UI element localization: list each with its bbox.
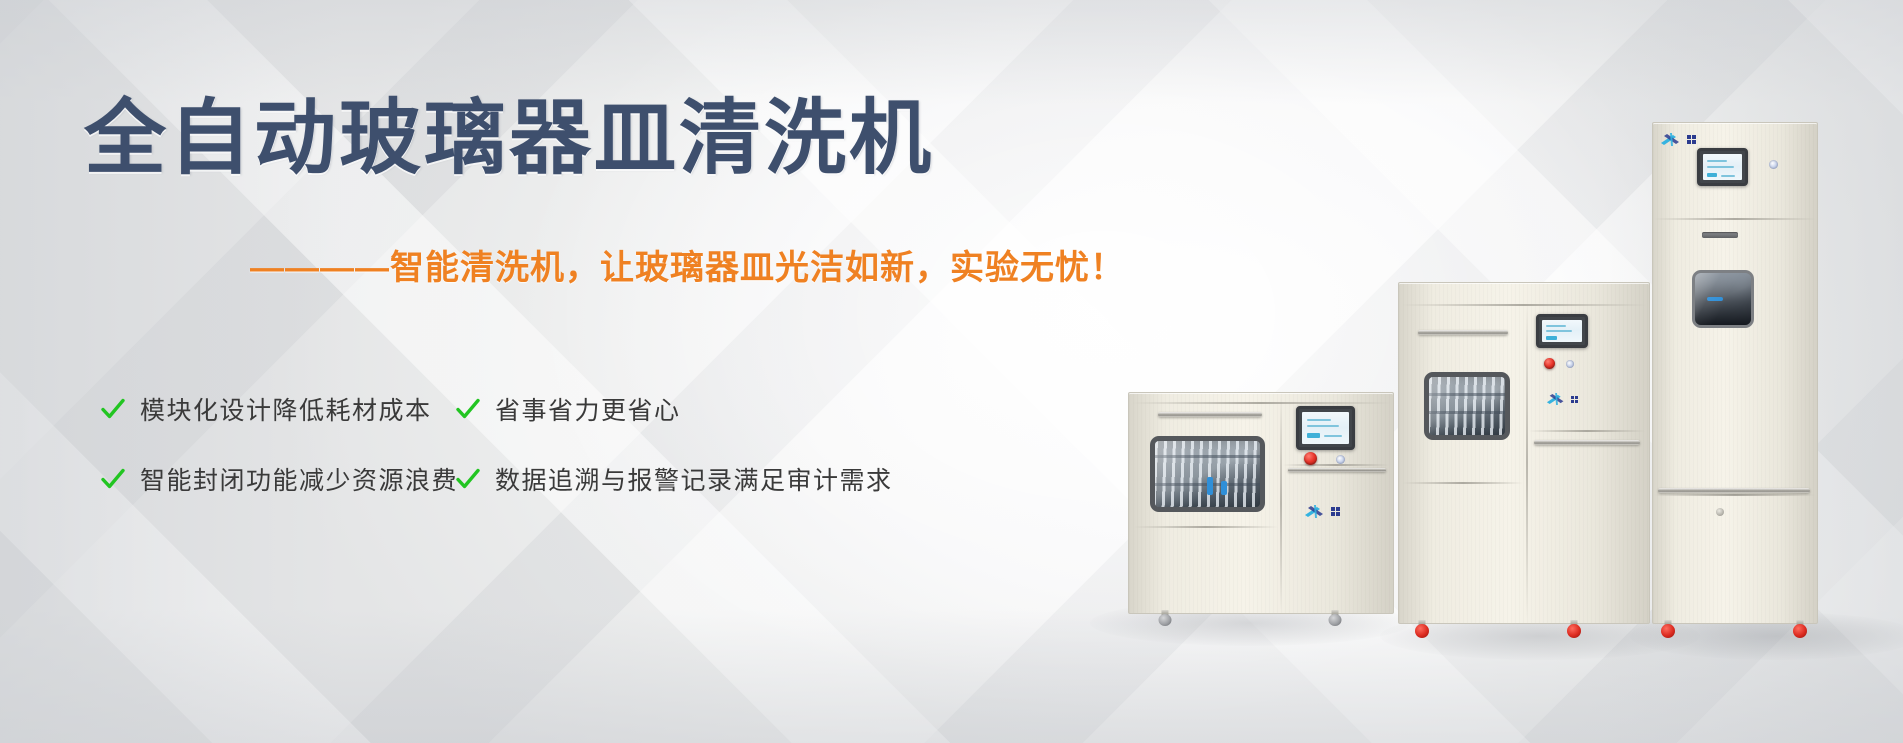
- door-handle[interactable]: [1418, 330, 1508, 335]
- panel-seam: [1529, 430, 1645, 432]
- hmi-touchscreen[interactable]: [1536, 314, 1588, 348]
- caster-wheel: [1660, 620, 1676, 638]
- status-indicator-lamp: [1336, 455, 1345, 464]
- status-indicator-lamp: [1566, 360, 1574, 368]
- logo-dots: [1687, 135, 1696, 144]
- emergency-stop-button[interactable]: [1544, 358, 1555, 369]
- caster-wheel: [1158, 610, 1172, 626]
- panel-seam-vertical: [1280, 395, 1282, 611]
- drawer-handle[interactable]: [1288, 468, 1386, 472]
- product-undercounter-glassware-washer: [1128, 392, 1394, 614]
- hmi-screen: [1542, 320, 1582, 342]
- window-glare: [1429, 377, 1505, 435]
- panel-seam: [1654, 218, 1816, 220]
- caster-wheel: [1792, 620, 1808, 638]
- brand-logo: [1304, 504, 1340, 519]
- brand-logo: [1660, 132, 1696, 147]
- panel-seam: [1134, 526, 1278, 528]
- lower-door-handle[interactable]: [1658, 488, 1810, 493]
- product-tall-column-glassware-washer: [1652, 122, 1818, 624]
- caster-wheel: [1414, 620, 1430, 638]
- brand-logo: [1546, 392, 1578, 406]
- caster-wheel: [1566, 620, 1582, 638]
- panel-seam: [1132, 402, 1390, 404]
- logo-dots: [1331, 507, 1340, 516]
- hmi-screen: [1703, 154, 1742, 180]
- emergency-stop-button[interactable]: [1304, 452, 1317, 465]
- chamber-viewing-window: [1424, 372, 1510, 440]
- hmi-touchscreen[interactable]: [1296, 406, 1355, 450]
- product-freestanding-glassware-washer: [1398, 282, 1650, 624]
- panel-seam-vertical: [1526, 304, 1528, 620]
- panel-seam: [1654, 494, 1816, 496]
- product-image-group: [0, 0, 1903, 743]
- caster-wheel: [1328, 610, 1342, 626]
- drawer-handle[interactable]: [1534, 440, 1640, 445]
- chamber-viewing-window: [1150, 436, 1265, 512]
- hmi-screen: [1302, 412, 1349, 444]
- door-handle[interactable]: [1158, 412, 1262, 417]
- window-glare: [1155, 441, 1260, 507]
- product-hero-banner: 全自动玻璃器皿清洗机 ————智能清洗机，让玻璃器皿光洁如新，实验无忧！ 模块化…: [0, 0, 1903, 743]
- door-handle-recess[interactable]: [1702, 232, 1738, 238]
- status-indicator-lamp: [1769, 160, 1778, 169]
- latch-knob[interactable]: [1716, 508, 1724, 516]
- chamber-viewing-window: [1692, 270, 1754, 328]
- hmi-touchscreen[interactable]: [1697, 148, 1748, 186]
- panel-seam: [1402, 304, 1646, 306]
- window-glare: [1695, 273, 1751, 325]
- cabinet-body: [1652, 122, 1818, 624]
- panel-seam: [1403, 482, 1523, 484]
- panel-seam: [1283, 464, 1389, 466]
- logo-dots: [1571, 396, 1578, 403]
